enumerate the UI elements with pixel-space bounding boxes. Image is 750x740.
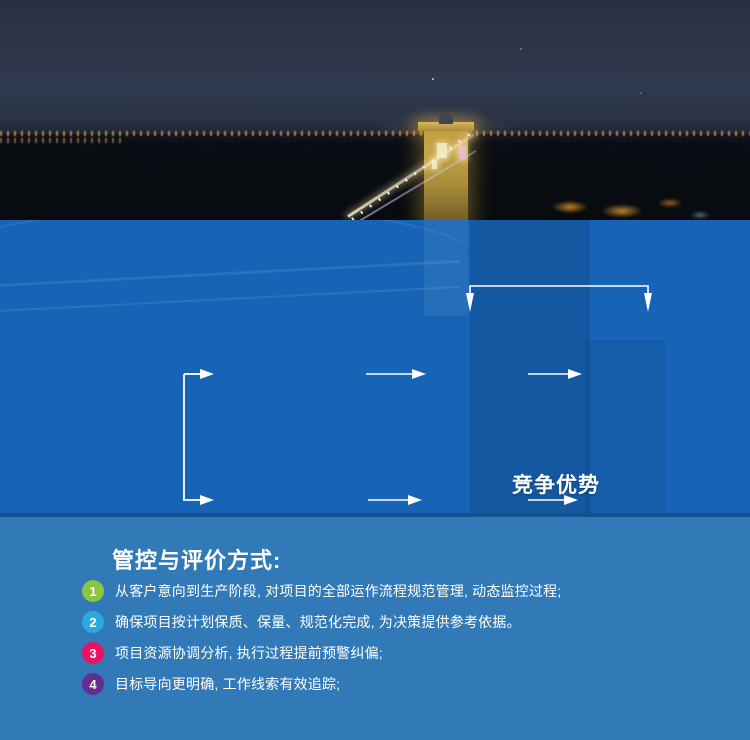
strategy-matrix-panel: 竞争优势 降低成本 产品差异化 竞争区域 广阔的目标市场 成本领先 差异化与创新… <box>0 220 750 513</box>
poster-page: 竞争优势 降低成本 产品差异化 竞争区域 广阔的目标市场 成本领先 差异化与创新… <box>0 0 750 740</box>
list-section-title: 管控与评价方式: <box>112 543 281 575</box>
list-number-badge: 4 <box>82 673 104 695</box>
list-item-text: 项目资源协调分析, 执行过程提前预警纠偏; <box>115 643 383 663</box>
distant-city-lights-left <box>0 138 125 143</box>
list-item: 4 目标导向更明确, 工作线索有效追踪; <box>82 673 340 695</box>
list-number-badge: 2 <box>82 611 104 633</box>
list-item-text: 从客户意向到生产阶段, 对项目的全部运作流程规范管理, 动态监控过程; <box>115 581 561 601</box>
label-competitive-advantage: 竞争优势 <box>512 475 600 496</box>
list-number-badge: 3 <box>82 642 104 664</box>
connector-lines <box>0 220 750 513</box>
distant-city-lights <box>0 131 750 136</box>
list-number-badge: 1 <box>82 580 104 602</box>
street-lights-glow <box>540 185 710 220</box>
bridge-tower-knob <box>439 113 453 124</box>
list-item: 3 项目资源协调分析, 执行过程提前预警纠偏; <box>82 642 383 664</box>
list-item-text: 确保项目按计划保质、保量、规范化完成, 为决策提供参考依据。 <box>115 612 521 632</box>
list-item-text: 目标导向更明确, 工作线索有效追踪; <box>115 674 340 694</box>
list-item: 2 确保项目按计划保质、保量、规范化完成, 为决策提供参考依据。 <box>82 611 521 633</box>
hero-photo <box>0 0 750 220</box>
list-item: 1 从客户意向到生产阶段, 对项目的全部运作流程规范管理, 动态监控过程; <box>82 580 561 602</box>
